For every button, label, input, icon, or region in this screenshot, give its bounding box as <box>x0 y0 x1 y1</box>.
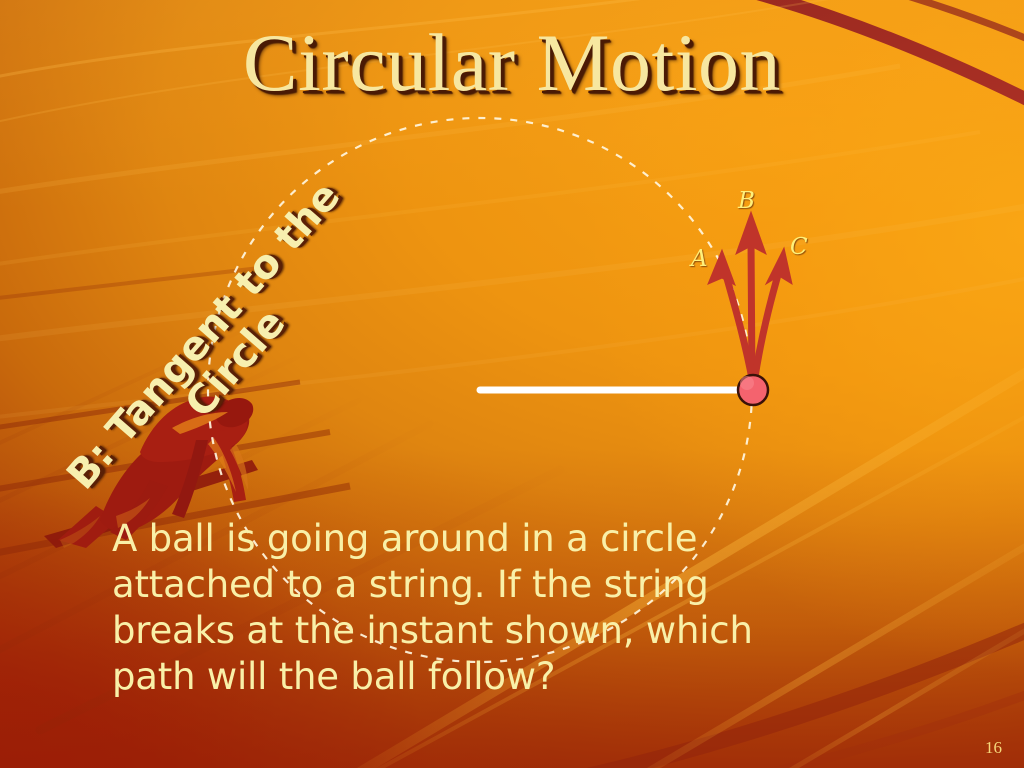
page-title: Circular Motion <box>0 22 1024 104</box>
page-number: 16 <box>985 738 1002 758</box>
arrow-b-shaft <box>751 240 752 386</box>
answer-label: B: Tangent to the Circle <box>34 145 405 554</box>
ball-highlight <box>740 376 754 390</box>
answer-label-wrap: B: Tangent to the Circle <box>55 205 385 495</box>
question-text: A ball is going around in a circle attac… <box>112 516 902 700</box>
slide-canvas: Circular Motion B: Tangent to the Circle… <box>0 0 1024 768</box>
vector-label-a: A <box>691 246 708 272</box>
vector-label-c: C <box>790 234 808 260</box>
vector-label-b: B <box>738 188 755 214</box>
trajectory-arrows <box>708 212 792 386</box>
